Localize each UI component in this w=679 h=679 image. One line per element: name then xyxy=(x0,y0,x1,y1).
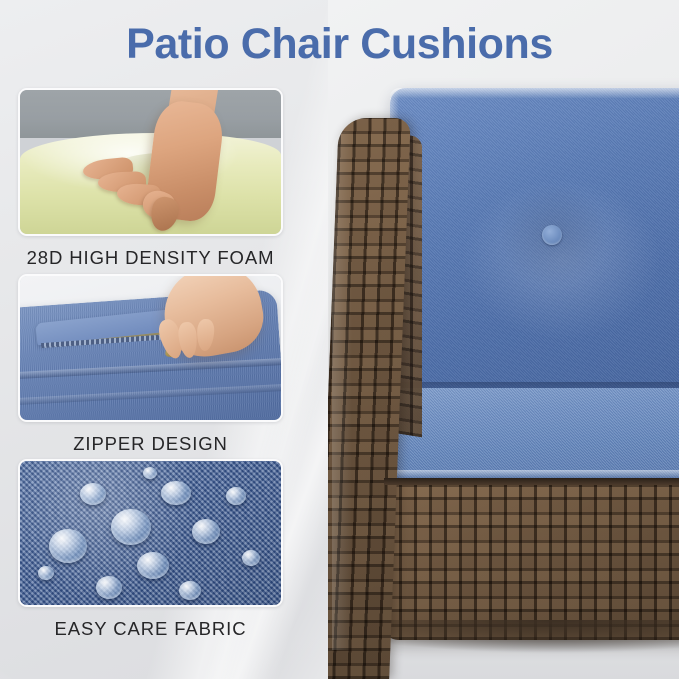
water-droplet xyxy=(179,581,201,600)
water-droplet xyxy=(192,519,220,544)
chair-base-top-edge xyxy=(384,478,679,485)
hand-pressing-foam-photo xyxy=(18,88,283,236)
page-title: Patio Chair Cushions xyxy=(0,20,679,69)
zipper-closeup-photo xyxy=(18,274,283,422)
chair-base-lower-curve xyxy=(384,620,679,664)
feature-label-zipper: ZIPPER DESIGN xyxy=(18,433,283,455)
water-droplet xyxy=(143,467,157,479)
water-droplet xyxy=(111,509,151,545)
feature-card-fabric: EASY CARE FABRIC xyxy=(18,459,283,640)
feature-card-foam: 28D HIGH DENSITY FOAM xyxy=(18,88,283,269)
feature-label-foam: 28D HIGH DENSITY FOAM xyxy=(18,247,283,269)
water-droplet xyxy=(80,483,106,505)
back-cushion-tuft-button xyxy=(542,225,562,245)
chair-wicker-base xyxy=(384,480,679,640)
wicker-patio-chair-photo xyxy=(328,0,679,679)
water-droplet xyxy=(137,552,169,579)
infographic-page: Patio Chair Cushions 28D HIGH DENSITY FO… xyxy=(0,0,679,679)
water-beading-fabric-photo xyxy=(18,459,283,607)
water-droplet xyxy=(49,529,87,563)
water-droplet xyxy=(161,481,191,505)
foam-photo-backdrop xyxy=(20,90,281,138)
feature-card-zipper: ZIPPER DESIGN xyxy=(18,274,283,455)
water-droplet xyxy=(96,576,122,599)
feature-label-fabric: EASY CARE FABRIC xyxy=(18,618,283,640)
back-cushion-piping xyxy=(390,88,679,98)
water-droplet xyxy=(226,487,246,505)
